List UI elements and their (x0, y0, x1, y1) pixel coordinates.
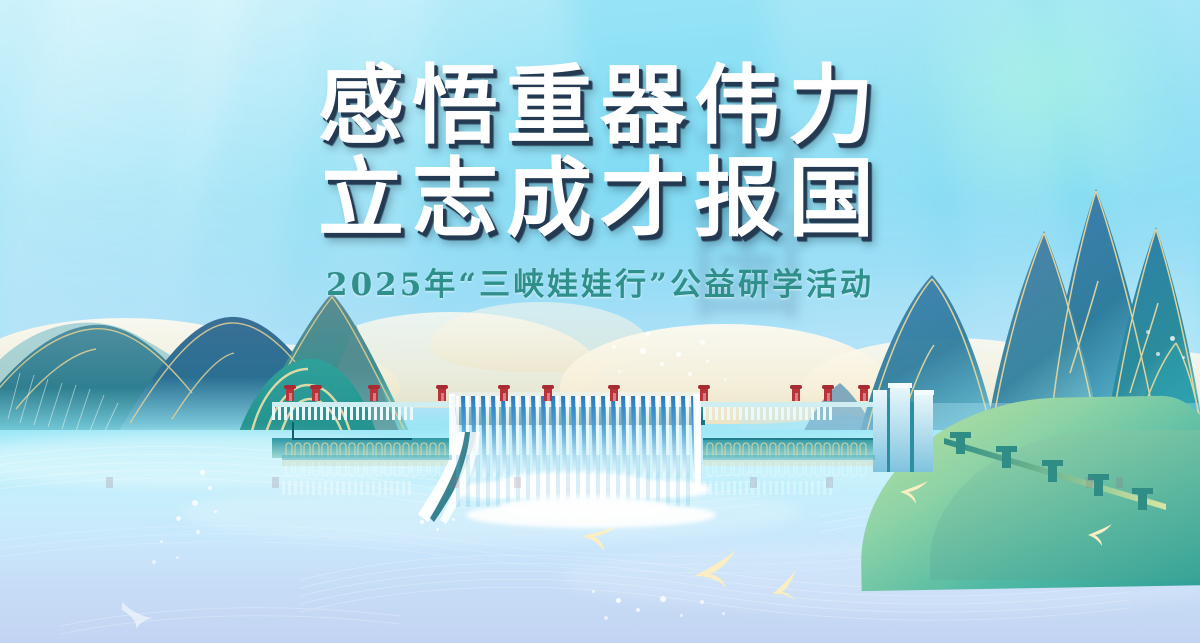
bubble (176, 516, 181, 521)
reflected-pavilion (1116, 477, 1123, 488)
reflection-hatch-left (282, 461, 452, 479)
pavilion-marker (500, 388, 508, 401)
pavilion-marker (286, 388, 294, 401)
lock-roof (888, 383, 912, 388)
reflection-post-row-right (703, 481, 875, 495)
bubble (192, 500, 198, 506)
swallow-bird (898, 478, 930, 506)
reflection-post-row-left (282, 481, 452, 495)
reflected-pavilion (106, 477, 113, 488)
pavilion-marker (824, 388, 832, 401)
reflected-pavilion (272, 477, 279, 488)
bubble (1146, 330, 1150, 334)
bubble (618, 370, 621, 373)
reflected-pavilion (750, 477, 757, 488)
pavilion-marker (438, 388, 446, 401)
bubble (196, 530, 200, 534)
dam-ledge-right (703, 438, 875, 440)
bubble (208, 486, 212, 490)
pavilion-marker (610, 388, 618, 401)
bubble (1182, 356, 1185, 359)
bubble (214, 510, 217, 513)
swallow-bird (690, 548, 740, 590)
bubble (612, 345, 616, 349)
bubble (604, 616, 608, 620)
dam-post-row-right (703, 407, 875, 420)
swallow-bird (770, 568, 800, 600)
bubble (680, 614, 683, 617)
bubble (660, 596, 666, 602)
bubble (706, 360, 709, 363)
bubble (436, 528, 439, 531)
bubble (688, 372, 692, 376)
pavilion-marker (700, 388, 708, 401)
pavilion-marker (370, 388, 378, 401)
lock-roof (914, 390, 934, 395)
bubble (152, 560, 156, 564)
reflection-bar (703, 455, 875, 460)
dam-post-row-left (272, 407, 452, 420)
reflection-bar (282, 455, 452, 460)
bubble (722, 612, 725, 615)
bubble (420, 520, 424, 524)
bubble (160, 540, 163, 543)
reflection-foam (500, 496, 670, 518)
reflection-hatch-right (703, 461, 873, 479)
pavilion-marker (792, 388, 800, 401)
reflected-pavilion (452, 477, 459, 488)
dam-ledge-left (292, 438, 412, 440)
bubble (1170, 336, 1175, 341)
swallow-bird (1086, 522, 1114, 548)
swallow-bird (120, 596, 160, 630)
bubble (700, 340, 705, 345)
bubble (1156, 352, 1160, 356)
reflected-pavilion (1086, 477, 1093, 488)
reflected-pavilion (826, 477, 833, 488)
bubble (700, 600, 704, 604)
bubble (200, 470, 205, 475)
pavilion-marker (860, 388, 868, 401)
pavilion-marker (312, 388, 320, 401)
bubble (176, 556, 179, 559)
bubble (660, 362, 664, 366)
bubble (640, 348, 646, 354)
bubble (724, 378, 727, 381)
bubble (616, 598, 621, 603)
bubble (452, 518, 455, 521)
bubble (592, 590, 595, 593)
bubble (646, 332, 650, 336)
reflected-pavilion (514, 477, 521, 488)
pavilion-marker (544, 388, 552, 401)
banner-stage: 力 国 (0, 0, 1200, 643)
bubble (636, 608, 640, 612)
bubble (676, 352, 681, 357)
